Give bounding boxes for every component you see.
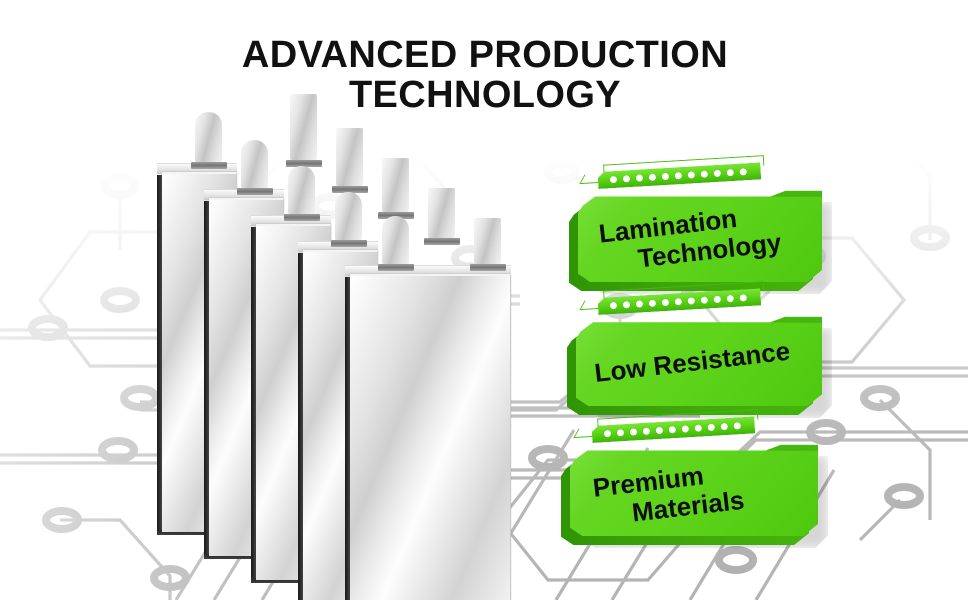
badge-label-line: Low Resistance: [593, 331, 841, 388]
page-title: ADVANCED PRODUCTION TECHNOLOGY: [0, 36, 970, 115]
perforated-clip-strip: [597, 162, 761, 189]
badge-tag-shape: Premium Materials: [570, 444, 818, 536]
feature-badge-lamination-technology[interactable]: Lamination Technology: [578, 190, 822, 282]
badge-tag-shape: Low Resistance: [576, 316, 822, 406]
perforated-clip-strip: [597, 288, 761, 315]
badge-tag-shape: Lamination Technology: [578, 190, 822, 282]
feature-badge-low-resistance[interactable]: Low Resistance: [576, 316, 822, 406]
feature-badge-premium-materials[interactable]: Premium Materials: [570, 444, 818, 536]
perforated-clip-strip: [591, 416, 755, 443]
poster-canvas: ADVANCED PRODUCTION TECHNOLOGY: [0, 0, 970, 600]
